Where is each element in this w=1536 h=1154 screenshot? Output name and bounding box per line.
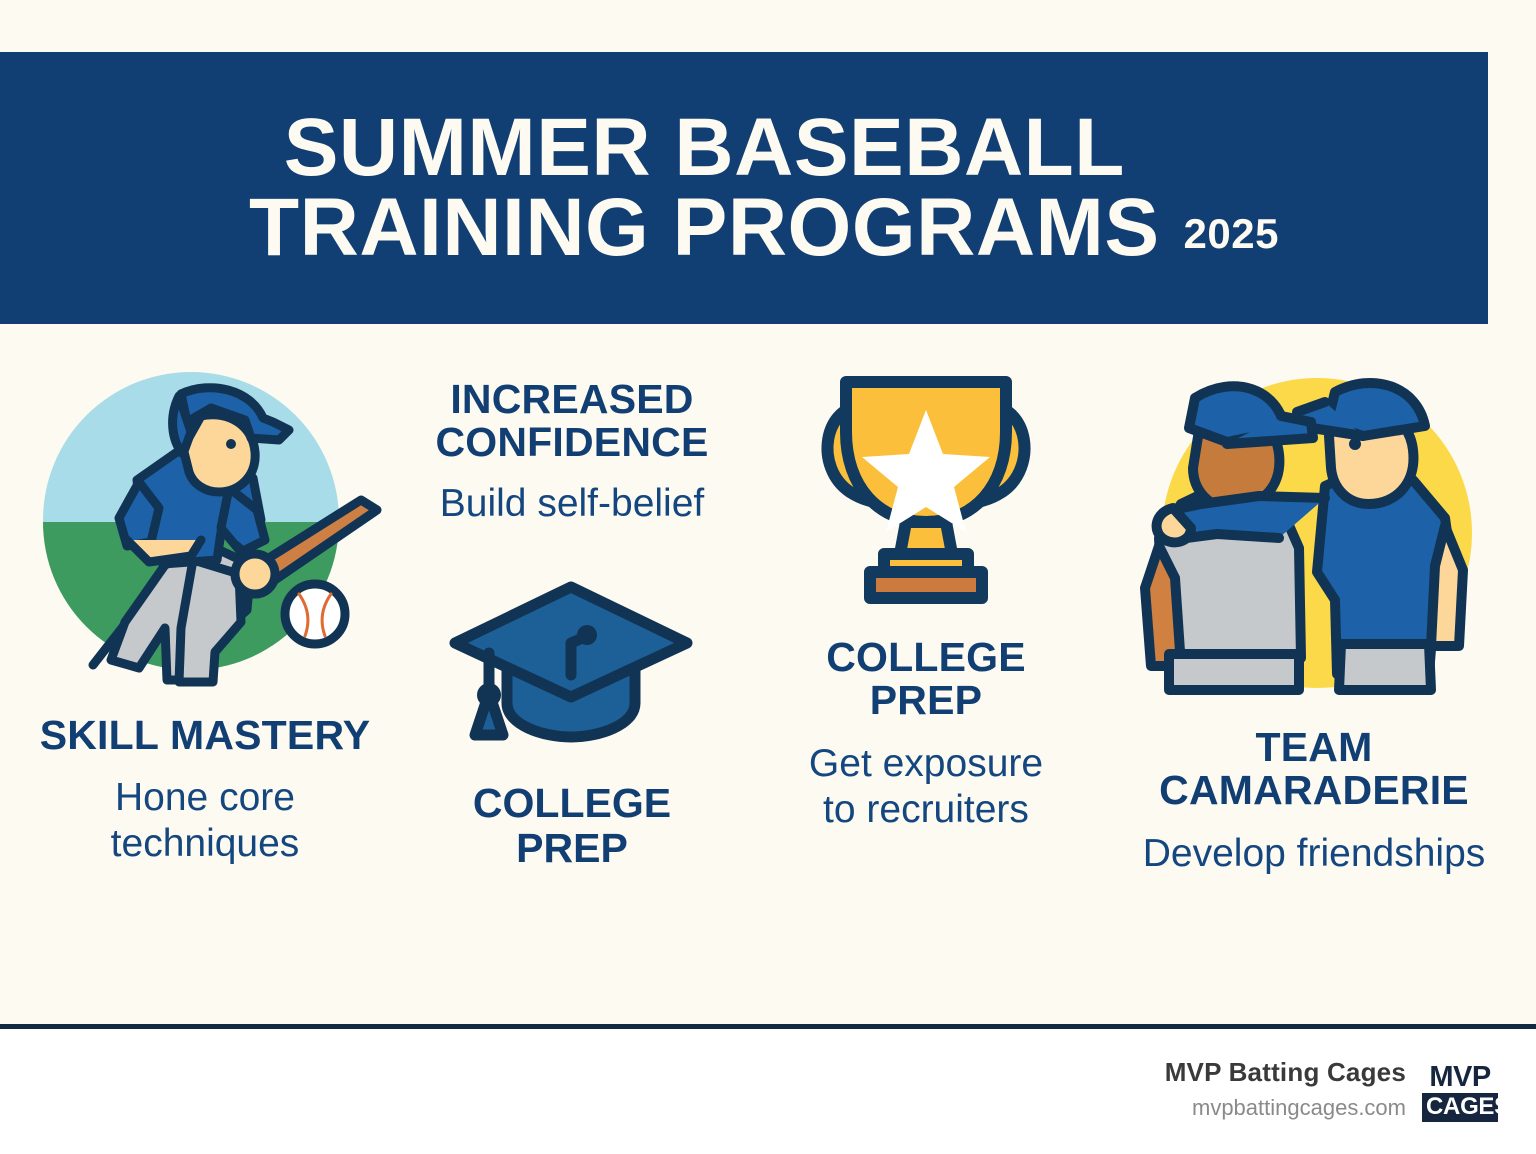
panel-heading-college-prep: COLLEGE PREP xyxy=(826,636,1026,723)
baseball-batter-illustration xyxy=(15,360,395,690)
trophy-icon xyxy=(798,358,1054,614)
header-year-badge: 2025 xyxy=(1184,210,1279,268)
panel-team-camaraderie: TEAM CAMARADERIE Develop friendships xyxy=(1104,358,1524,877)
panel-heading-increased-confidence: INCREASED CONFIDENCE xyxy=(435,378,708,465)
graduation-cap-icon xyxy=(447,565,697,755)
header-inner: SUMMER BASEBALL TRAINING PROGRAMS 2025 xyxy=(209,108,1279,269)
panel-heading-team-camaraderie: TEAM CAMARADERIE xyxy=(1159,726,1469,813)
header-banner: SUMMER BASEBALL TRAINING PROGRAMS 2025 xyxy=(0,52,1488,324)
panel-college-prep: COLLEGE PREP Get exposure to recruiters xyxy=(766,358,1086,833)
panel-increased-confidence: INCREASED CONFIDENCE Build self-belief C… xyxy=(392,378,752,871)
page-title: SUMMER BASEBALL TRAINING PROGRAMS xyxy=(249,108,1160,269)
footer-brand-url[interactable]: mvpbattingcages.com xyxy=(1165,1095,1406,1121)
panel-heading-skill-mastery: SKILL MASTERY xyxy=(40,714,371,757)
logo-text-mvp: MVP xyxy=(1422,1063,1498,1092)
panel-heading-college-prep-cap: COLLEGE PREP xyxy=(473,781,671,871)
panel-subtitle-skill-mastery: Hone core techniques xyxy=(111,775,300,867)
panel-subtitle-team-camaraderie: Develop friendships xyxy=(1143,831,1486,877)
panel-subtitle-college-prep: Get exposure to recruiters xyxy=(809,741,1043,833)
footer-brand-name: MVP Batting Cages xyxy=(1165,1057,1406,1088)
two-teammates-illustration xyxy=(1129,358,1499,698)
logo-text-cages: CAGES xyxy=(1422,1093,1498,1122)
footer-brand-block: MVP Batting Cages mvpbattingcages.com xyxy=(1165,1057,1406,1121)
footer: MVP Batting Cages mvpbattingcages.com MV… xyxy=(0,1029,1536,1154)
panel-skill-mastery: SKILL MASTERY Hone core techniques xyxy=(0,360,410,867)
benefits-panel-row: SKILL MASTERY Hone core techniques INCRE… xyxy=(0,330,1536,1020)
mvp-cages-logo: MVP CAGES xyxy=(1422,1063,1498,1122)
panel-subtitle-increased-confidence: Build self-belief xyxy=(440,481,704,527)
